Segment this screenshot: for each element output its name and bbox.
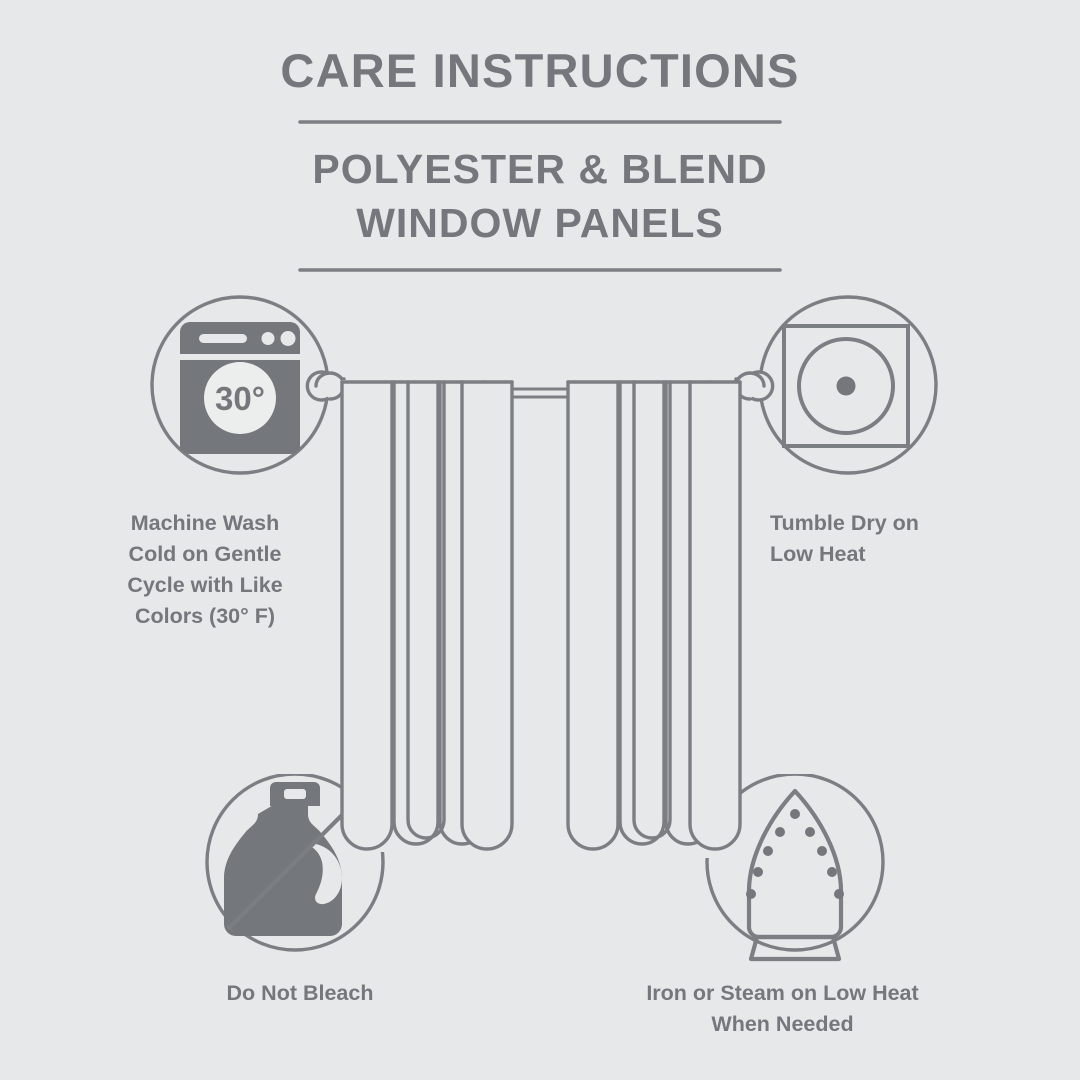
caption-tumble-dry: Tumble Dry on Low Heat xyxy=(770,508,1070,570)
dryer-center-dot xyxy=(837,377,856,396)
curtain-window-panels xyxy=(307,372,772,852)
finial-left xyxy=(307,372,344,400)
left-panel xyxy=(342,380,512,852)
right-panel xyxy=(568,382,740,849)
caption-iron: Iron or Steam on Low Heat When Needed xyxy=(590,978,975,1040)
page-subtitle: POLYESTER & BLEND WINDOW PANELS xyxy=(0,142,1080,250)
iron-icon xyxy=(746,791,844,959)
iron-heel xyxy=(751,937,839,959)
caption-do-not-bleach: Do Not Bleach xyxy=(170,978,430,1009)
iron-steam-holes xyxy=(746,809,844,899)
care-instructions-card: 30° xyxy=(0,0,1080,1080)
washing-machine-icon: 30° xyxy=(180,322,300,454)
wash-temperature-label: 30° xyxy=(215,380,265,417)
caption-machine-wash: Machine Wash Cold on Gentle Cycle with L… xyxy=(75,508,335,632)
page-title: CARE INSTRUCTIONS xyxy=(0,42,1080,99)
